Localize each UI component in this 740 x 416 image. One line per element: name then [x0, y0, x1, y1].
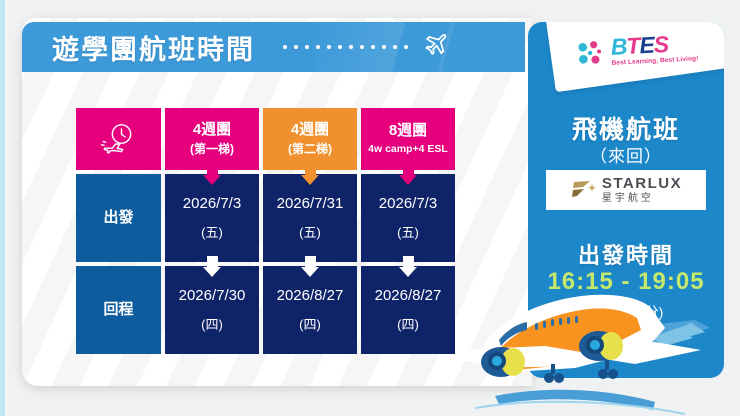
departure-date-1: 2026/7/3: [183, 195, 241, 214]
flight-schedule-table: 4週團 (第一梯) 4週團 (第二梯) 8週團 4w camp+4 ESL 出發…: [76, 108, 455, 356]
departure-day-1: (五): [201, 225, 223, 241]
departure-cell-2: 2026/7/31 (五): [263, 174, 357, 262]
column-3-main: 8週團: [389, 122, 427, 141]
row-label-departure: 出發: [76, 174, 161, 262]
btes-logo-mark-icon: [575, 37, 607, 69]
departure-row: 出發 2026/7/3 (五) 2026/7/31 (五) 2026/7/3 (…: [76, 174, 455, 262]
return-date-2: 2026/8/27: [277, 287, 344, 306]
return-cell-1: 2026/7/30 (四): [165, 266, 259, 354]
return-row: 回程 2026/7/30 (四) 2026/8/27 (四) 2026/8/27…: [76, 266, 455, 354]
clock-plane-icon: [76, 108, 161, 170]
row-label-return: 回程: [76, 266, 161, 354]
slide-canvas: 遊學團航班時間 4週團 (第一梯): [0, 0, 740, 416]
header-dotted-line: [283, 45, 408, 49]
btes-logo-text: BTES Best Learning, Best Living!: [610, 32, 698, 68]
departure-cell-1: 2026/7/3 (五): [165, 174, 259, 262]
panel-subtitle: （來回）: [528, 142, 724, 167]
airplane-icon: [422, 32, 448, 63]
starlux-text: STARLUX 星宇航空: [602, 176, 682, 204]
column-2-sub: (第二梯): [288, 142, 332, 157]
column-1-sub: (第一梯): [190, 142, 234, 157]
return-day-2: (四): [299, 317, 321, 333]
return-day-1: (四): [201, 317, 223, 333]
logo-letter-t: T: [626, 33, 640, 60]
logo-letter-e: E: [639, 32, 655, 59]
departure-time-label: 出發時間: [528, 238, 724, 270]
column-header-group-1: 4週團 (第一梯): [165, 108, 259, 170]
panel-title: 飛機航班: [528, 110, 724, 146]
column-1-main: 4週團: [193, 121, 231, 140]
return-cell-3: 2026/8/27 (四): [361, 266, 455, 354]
column-header-group-3: 8週團 4w camp+4 ESL: [361, 108, 455, 170]
return-date-3: 2026/8/27: [375, 287, 442, 306]
logo-letter-b: B: [610, 33, 627, 60]
btes-logo: BTES Best Learning, Best Living!: [575, 24, 717, 75]
departure-cell-3: 2026/7/3 (五): [361, 174, 455, 262]
starlux-mark-icon: [570, 178, 596, 202]
page-title: 遊學團航班時間: [52, 28, 255, 67]
airline-name: STARLUX: [602, 176, 682, 191]
logo-letter-s: S: [653, 31, 669, 58]
return-cell-2: 2026/8/27 (四): [263, 266, 357, 354]
airplane-illustration: [455, 268, 740, 416]
table-header-row: 4週團 (第一梯) 4週團 (第二梯) 8週團 4w camp+4 ESL: [76, 108, 455, 170]
column-header-group-2: 4週團 (第二梯): [263, 108, 357, 170]
column-3-sub: 4w camp+4 ESL: [368, 143, 448, 156]
return-date-1: 2026/7/30: [179, 287, 246, 306]
airline-name-cn: 星宇航空: [602, 194, 682, 204]
left-edge-strip-inner: [5, 0, 8, 416]
btes-wordmark: BTES: [610, 31, 669, 60]
header-bar: 遊學團航班時間: [22, 22, 525, 72]
departure-day-3: (五): [397, 225, 419, 241]
airline-logo: STARLUX 星宇航空: [546, 170, 706, 210]
return-day-3: (四): [397, 317, 419, 333]
column-2-main: 4週團: [291, 121, 329, 140]
departure-date-3: 2026/7/3: [379, 195, 437, 214]
departure-date-2: 2026/7/31: [277, 195, 344, 214]
departure-day-2: (五): [299, 225, 321, 241]
